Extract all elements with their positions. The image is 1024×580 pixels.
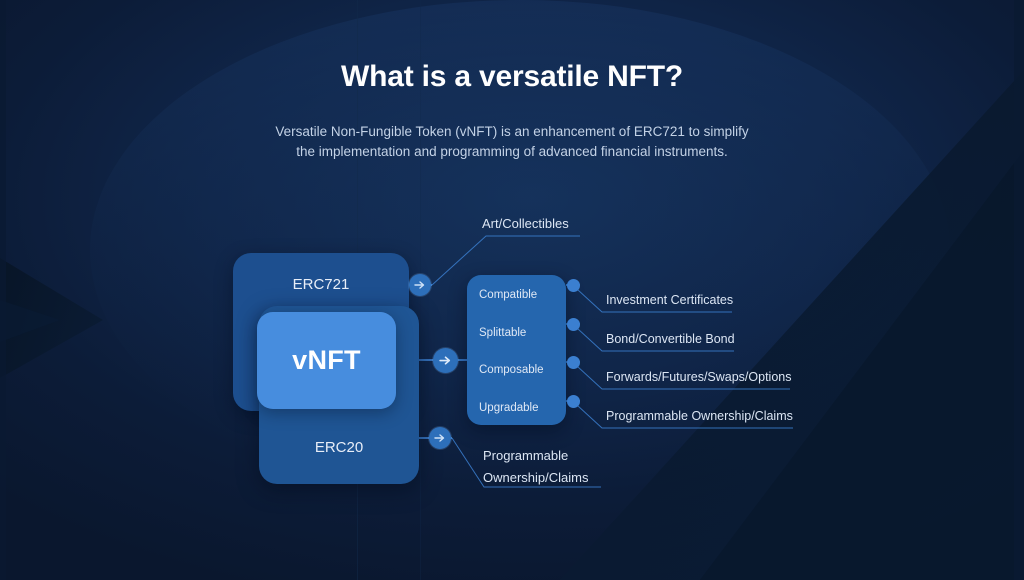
bullet-dot-icon — [567, 395, 580, 408]
feature-item: Compatible — [479, 289, 558, 302]
outcome-label: Forwards/Futures/Swaps/Options — [606, 370, 792, 385]
feature-item: Composable — [479, 364, 558, 377]
arrow-right-icon-vnft-features[interactable] — [433, 348, 458, 373]
branch-label-art-collectibles: Art/Collectibles — [482, 213, 569, 235]
node-erc721-label: ERC721 — [233, 276, 409, 293]
outcome-label: Programmable Ownership/Claims — [606, 409, 793, 424]
bullet-dot-icon — [567, 279, 580, 292]
page-subtitle: Versatile Non-Fungible Token (vNFT) is a… — [267, 122, 757, 161]
feature-item: Upgradable — [479, 402, 558, 415]
outcome-label: Investment Certificates — [606, 293, 733, 308]
arrow-right-icon-erc721-branch[interactable] — [409, 274, 431, 296]
node-vnft-label: vNFT — [257, 312, 396, 409]
node-erc20-label: ERC20 — [259, 439, 419, 456]
bullet-dot-icon — [567, 318, 580, 331]
node-vnft[interactable]: vNFT — [257, 312, 396, 409]
branch-label-programmable-ownership: Programmable Ownership/Claims — [483, 445, 613, 489]
page-title: What is a versatile NFT? — [0, 58, 1024, 96]
feature-box[interactable]: Compatible Splittable Composable Upgrada… — [467, 275, 566, 425]
slide-header: What is a versatile NFT? Versatile Non-F… — [0, 58, 1024, 161]
bullet-dot-icon — [567, 356, 580, 369]
slide-canvas: What is a versatile NFT? Versatile Non-F… — [0, 0, 1024, 580]
feature-item: Splittable — [479, 327, 558, 340]
outcome-label: Bond/Convertible Bond — [606, 332, 735, 347]
arrow-right-icon-erc20-branch[interactable] — [429, 427, 451, 449]
